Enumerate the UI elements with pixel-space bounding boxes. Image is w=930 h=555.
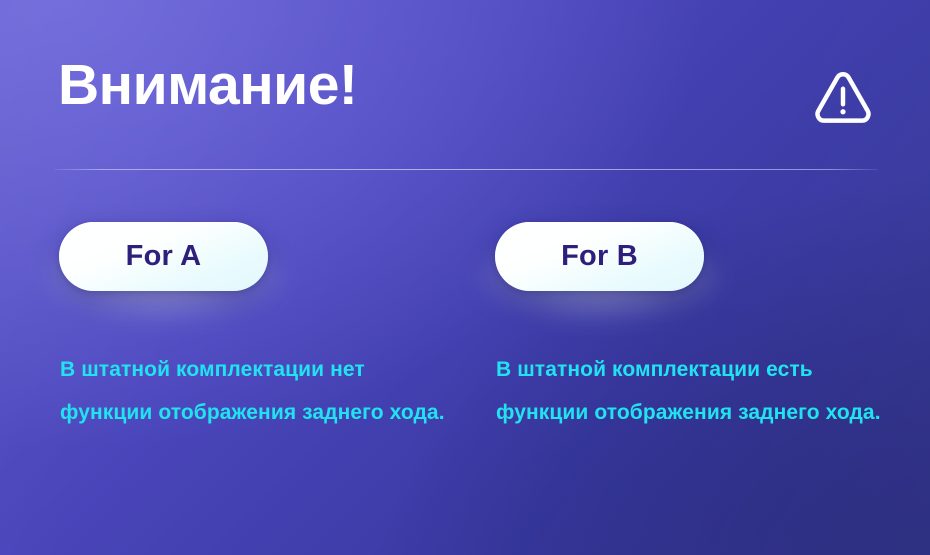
warning-triangle-icon [812,66,874,128]
pill-wrapper-for-b: For B [495,222,704,292]
option-column-for-b: For B В штатной комплектации есть функци… [495,222,915,292]
pill-wrapper-for-a: For A [59,222,268,292]
description-text-for-b: В штатной комплектации есть функции отоб… [496,348,888,434]
header-divider [54,169,878,170]
page-title: Внимание! [58,57,357,114]
description-text-for-a: В штатной комплектации нет функции отобр… [60,348,452,434]
attention-slide: Внимание! For A В штатной комплектации н… [0,0,930,555]
pill-button-for-a[interactable]: For A [59,222,268,291]
pill-button-for-b[interactable]: For B [495,222,704,291]
pill-label-for-a: For A [126,242,202,271]
pill-label-for-b: For B [561,242,638,271]
option-column-for-a: For A В штатной комплектации нет функции… [59,222,479,292]
